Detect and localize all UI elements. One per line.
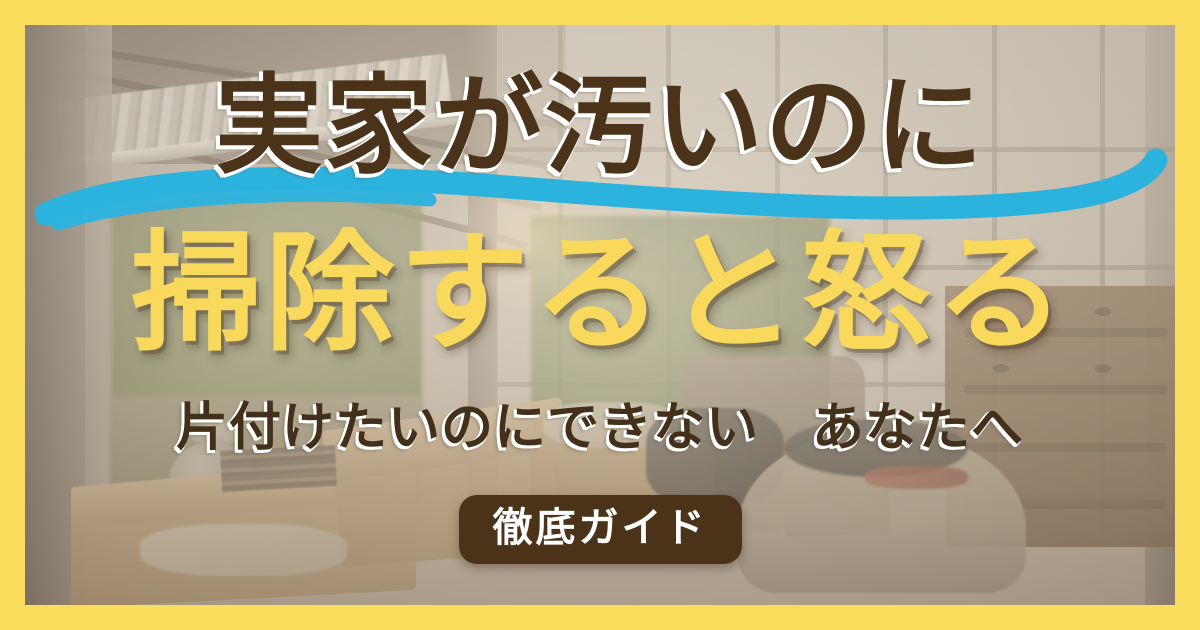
badge-container: 徹底ガイド (0, 495, 1200, 564)
text-content: 実家が汚いのに 掃除すると怒る 片付けたいのにできない あなたへ 徹底ガイド (0, 0, 1200, 630)
headline-line-2: 掃除すると怒る (0, 228, 1200, 358)
guide-badge: 徹底ガイド (459, 495, 742, 564)
subtitle: 片付けたいのにできない あなたへ (0, 402, 1200, 454)
promo-banner: 実家が汚いのに 掃除すると怒る 片付けたいのにできない あなたへ 徹底ガイド (0, 0, 1200, 630)
headline-line-1: 実家が汚いのに (0, 72, 1200, 180)
